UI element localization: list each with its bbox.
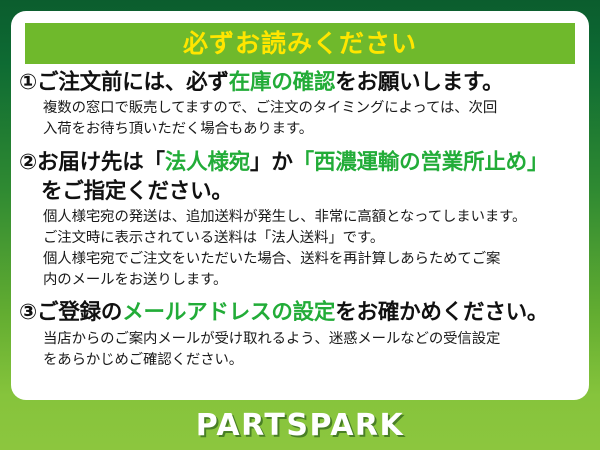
notice-item-3-heading-part-1: メールアドレスの設定 (122, 300, 335, 325)
notice-item-2-heading-part-0: お届け先は (37, 150, 144, 175)
notice-item-3-heading: ③ご登録のメールアドレスの設定をお確かめください。 (19, 299, 583, 327)
notice-item-2-body-line-3: 個人様宅宛でご注文をいただいた場合、送料を再計算しあらためてご案 (43, 249, 583, 270)
notice-item-1-heading: ①ご注文前には、必ず在庫の確認をお願いします。 (19, 69, 583, 97)
notice-item-2-heading-line-2: をご指定ください。 (41, 178, 583, 206)
notice-card: 必ずお読みください ①ご注文前には、必ず在庫の確認をお願いします。 複数の窓口で… (11, 11, 589, 400)
notice-banner: 必ずお読みください ①ご注文前には、必ず在庫の確認をお願いします。 複数の窓口で… (0, 0, 600, 450)
notice-item-1-body-line-2: 入荷をお待ち頂いただく場合もあります。 (43, 119, 583, 140)
notice-item-3: ③ご登録のメールアドレスの設定をお確かめください。 当店からのご案内メールが受け… (11, 299, 589, 370)
notice-item-2-body-line-2: ご注文時に表示されている送料は「法人送料」です。 (43, 228, 583, 249)
notice-item-2: ②お届け先は「法人様宛」か「西濃運輸の営業所止め」 をご指定ください。 個人様宅… (11, 149, 589, 290)
notice-item-3-number: ③ (19, 300, 37, 325)
notice-item-2-heading-part-5: 「西濃運輸の営業所止め」 (293, 150, 549, 175)
notice-item-2-body-line-4: 内のメールをお送りします。 (43, 270, 583, 291)
footer-band: PARTSPARK (0, 400, 600, 450)
notice-item-2-heading-part-2: 法人様宛 (165, 150, 250, 175)
notice-item-1-number: ① (19, 70, 37, 95)
notice-item-2-body-line-1: 個人様宅宛の発送は、追加送料が発生し、非常に高額となってしまいます。 (43, 207, 583, 228)
notice-item-3-heading-part-0: ご登録の (37, 300, 122, 325)
notice-item-3-heading-part-2: をお確かめください。 (335, 300, 548, 325)
notice-items-list: ①ご注文前には、必ず在庫の確認をお願いします。 複数の窓口で販売してますので、ご… (11, 69, 589, 371)
notice-item-3-body-line-2: をあらかじめご確認ください。 (43, 350, 583, 371)
notice-item-1-body: 複数の窓口で販売してますので、ご注文のタイミングによっては、次回 入荷をお待ち頂… (43, 98, 583, 140)
notice-item-2-body: 個人様宅宛の発送は、追加送料が発生し、非常に高額となってしまいます。 ご注文時に… (43, 207, 583, 291)
notice-item-2-heading-part-1: 「 (144, 150, 165, 175)
notice-item-1: ①ご注文前には、必ず在庫の確認をお願いします。 複数の窓口で販売してますので、ご… (11, 69, 589, 140)
header-title: 必ずお読みください (183, 31, 417, 56)
notice-item-1-heading-part-2: をお願いします。 (335, 70, 503, 95)
notice-item-2-heading: ②お届け先は「法人様宛」か「西濃運輸の営業所止め」 (19, 149, 583, 177)
notice-item-2-number: ② (19, 150, 37, 175)
notice-item-2-heading-part-4: か (271, 150, 292, 175)
notice-item-3-body-line-1: 当店からのご案内メールが受け取れるよう、迷惑メールなどの受信設定 (43, 329, 583, 350)
brand-logo: PARTSPARK (196, 408, 405, 443)
notice-item-2-heading-part-3: 」 (250, 150, 271, 175)
notice-item-1-body-line-1: 複数の窓口で販売してますので、ご注文のタイミングによっては、次回 (43, 98, 583, 119)
header-band: 必ずお読みください (25, 23, 575, 64)
notice-item-1-heading-part-1: 在庫の確認 (229, 70, 336, 95)
notice-item-1-heading-part-0: ご注文前には、必ず (37, 70, 229, 95)
notice-item-3-body: 当店からのご案内メールが受け取れるよう、迷惑メールなどの受信設定 をあらかじめご… (43, 329, 583, 371)
